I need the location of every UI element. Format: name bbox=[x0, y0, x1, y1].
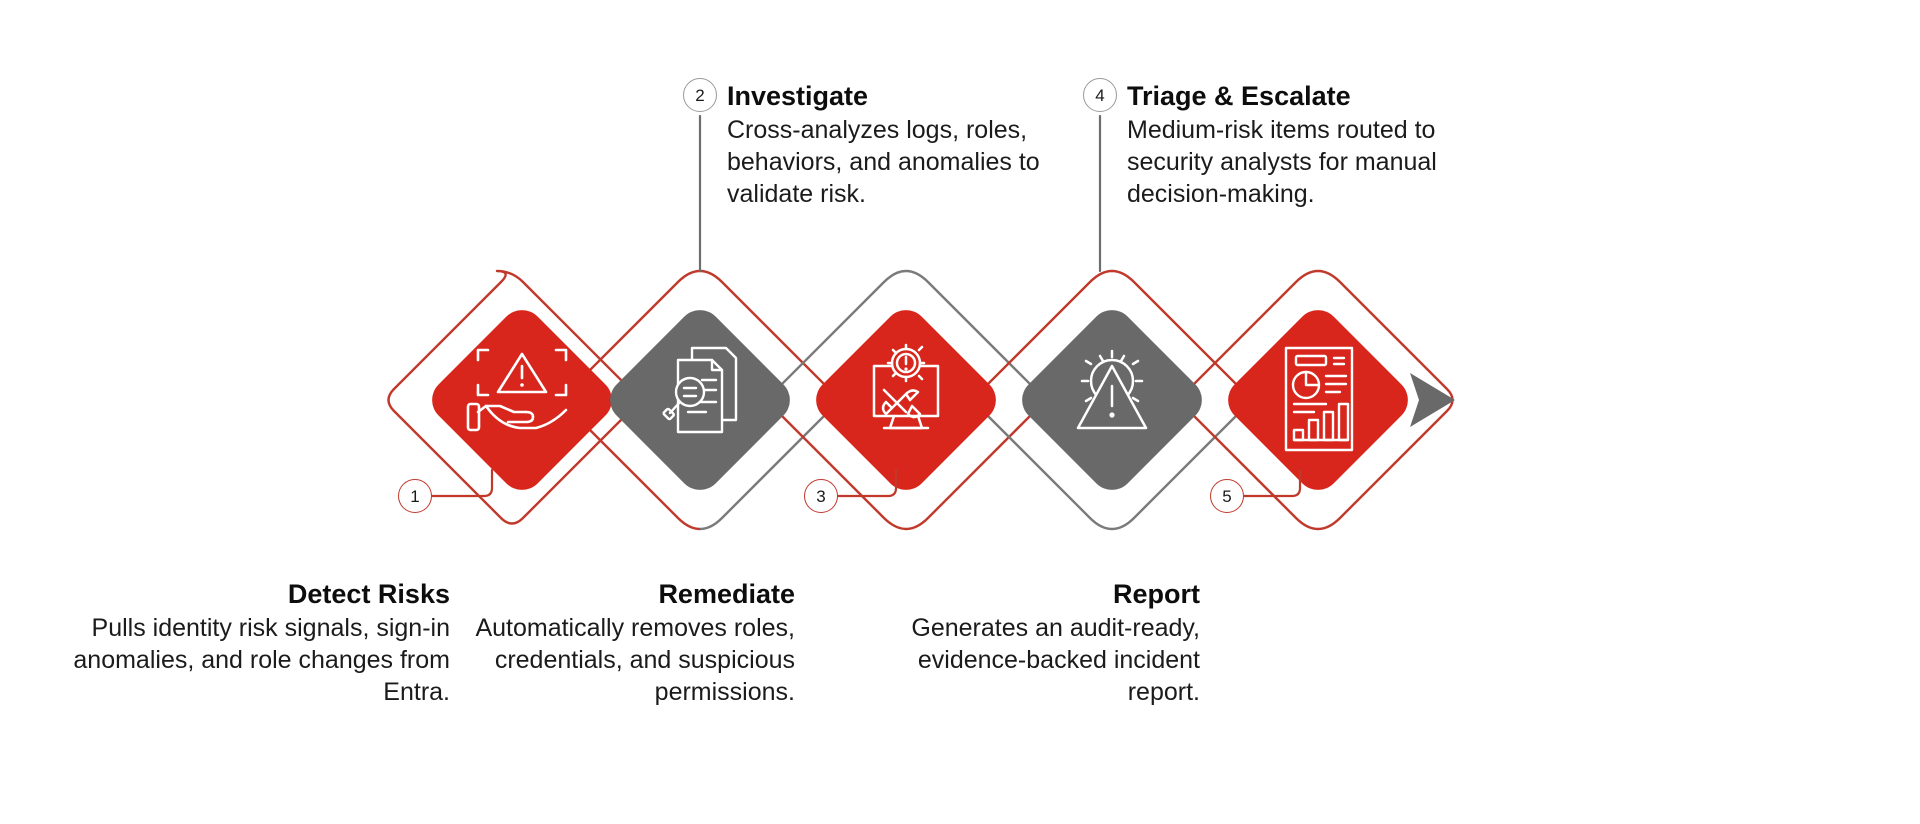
callout-step-4: Triage & Escalate Medium-risk items rout… bbox=[1127, 80, 1467, 210]
callout-body-5: Generates an audit-ready, evidence-backe… bbox=[880, 612, 1200, 708]
arrowhead-4-to-5 bbox=[1410, 373, 1455, 427]
callout-body-1: Pulls identity risk signals, sign-in ano… bbox=[60, 612, 450, 708]
step-badge-1[interactable]: 1 bbox=[398, 479, 432, 513]
callout-title-2: Investigate bbox=[727, 80, 1057, 113]
callout-title-3: Remediate bbox=[465, 578, 795, 611]
callout-step-2: Investigate Cross-analyzes logs, roles, … bbox=[727, 80, 1057, 210]
callout-body-2: Cross-analyzes logs, roles, behaviors, a… bbox=[727, 114, 1057, 210]
callout-title-1: Detect Risks bbox=[60, 578, 450, 611]
callout-title-4: Triage & Escalate bbox=[1127, 80, 1467, 113]
diagram-canvas: 1 2 3 4 5 Detect Risks Pulls identity ri… bbox=[0, 0, 1920, 824]
leader-line-1 bbox=[432, 470, 492, 496]
callout-title-5: Report bbox=[880, 578, 1200, 611]
callout-step-5: Report Generates an audit-ready, evidenc… bbox=[880, 578, 1200, 708]
callout-body-4: Medium-risk items routed to security ana… bbox=[1127, 114, 1467, 210]
callout-body-3: Automatically removes roles, credentials… bbox=[465, 612, 795, 708]
step-badge-2[interactable]: 2 bbox=[683, 78, 717, 112]
step-badge-5[interactable]: 5 bbox=[1210, 479, 1244, 513]
callout-step-3: Remediate Automatically removes roles, c… bbox=[465, 578, 795, 708]
callout-step-1: Detect Risks Pulls identity risk signals… bbox=[60, 578, 450, 708]
step-badge-4[interactable]: 4 bbox=[1083, 78, 1117, 112]
step-badge-3[interactable]: 3 bbox=[804, 479, 838, 513]
